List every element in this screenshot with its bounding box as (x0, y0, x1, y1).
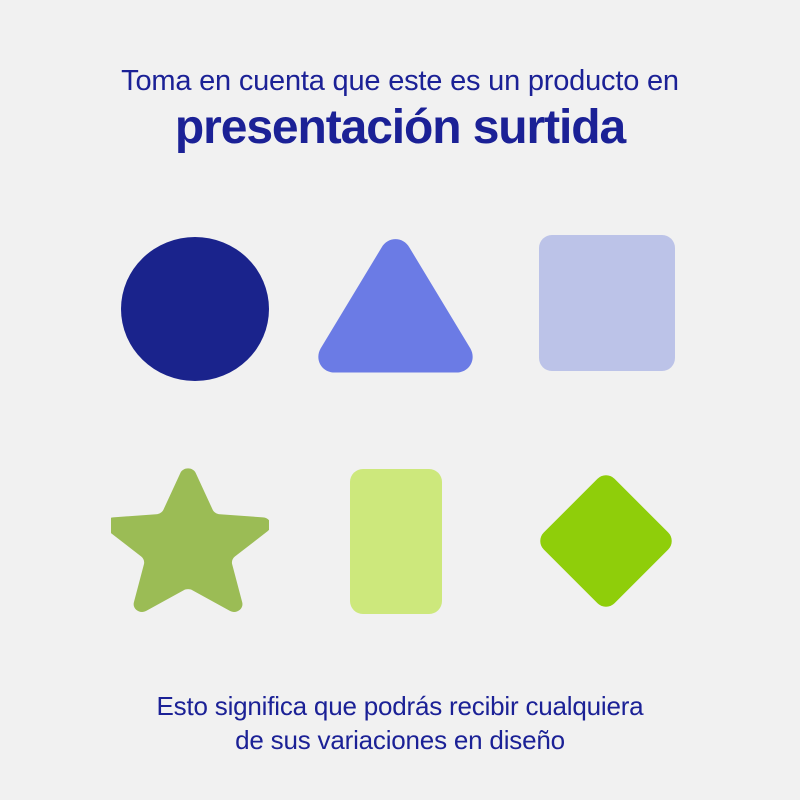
headline-block: Toma en cuenta que este es un producto e… (0, 62, 800, 156)
rounded-square-shape (539, 235, 675, 371)
shape-cell-diamond (500, 447, 700, 612)
shape-cell-rounded-rectangle (300, 447, 500, 612)
star-icon (111, 467, 269, 615)
circle-shape (121, 237, 269, 381)
shape-cell-circle (100, 226, 300, 391)
circle-icon (120, 235, 270, 383)
rounded-rectangle-shape (350, 469, 442, 614)
shapes-row-top (100, 226, 700, 391)
triangle-icon (318, 236, 474, 373)
rounded-square-icon (539, 235, 675, 371)
footer-block: Esto significa que podrás recibir cualqu… (0, 689, 800, 757)
headline-line-1: Toma en cuenta que este es un producto e… (0, 62, 800, 100)
footer-line-2: de sus variaciones en diseño (0, 723, 800, 757)
diamond-shape (535, 470, 676, 611)
promo-poster: Toma en cuenta que este es un producto e… (0, 0, 800, 800)
shapes-row-bottom (100, 447, 700, 612)
triangle-shape (318, 239, 472, 372)
diamond-icon (528, 463, 684, 619)
shape-cell-triangle (300, 226, 500, 391)
rounded-rectangle-icon (350, 469, 442, 614)
shapes-grid (100, 226, 700, 612)
footer-line-1: Esto significa que podrás recibir cualqu… (0, 689, 800, 723)
headline-line-2: presentación surtida (0, 100, 800, 156)
shape-cell-rounded-square (500, 226, 700, 391)
star-shape (111, 468, 269, 612)
shape-cell-star (100, 447, 300, 612)
